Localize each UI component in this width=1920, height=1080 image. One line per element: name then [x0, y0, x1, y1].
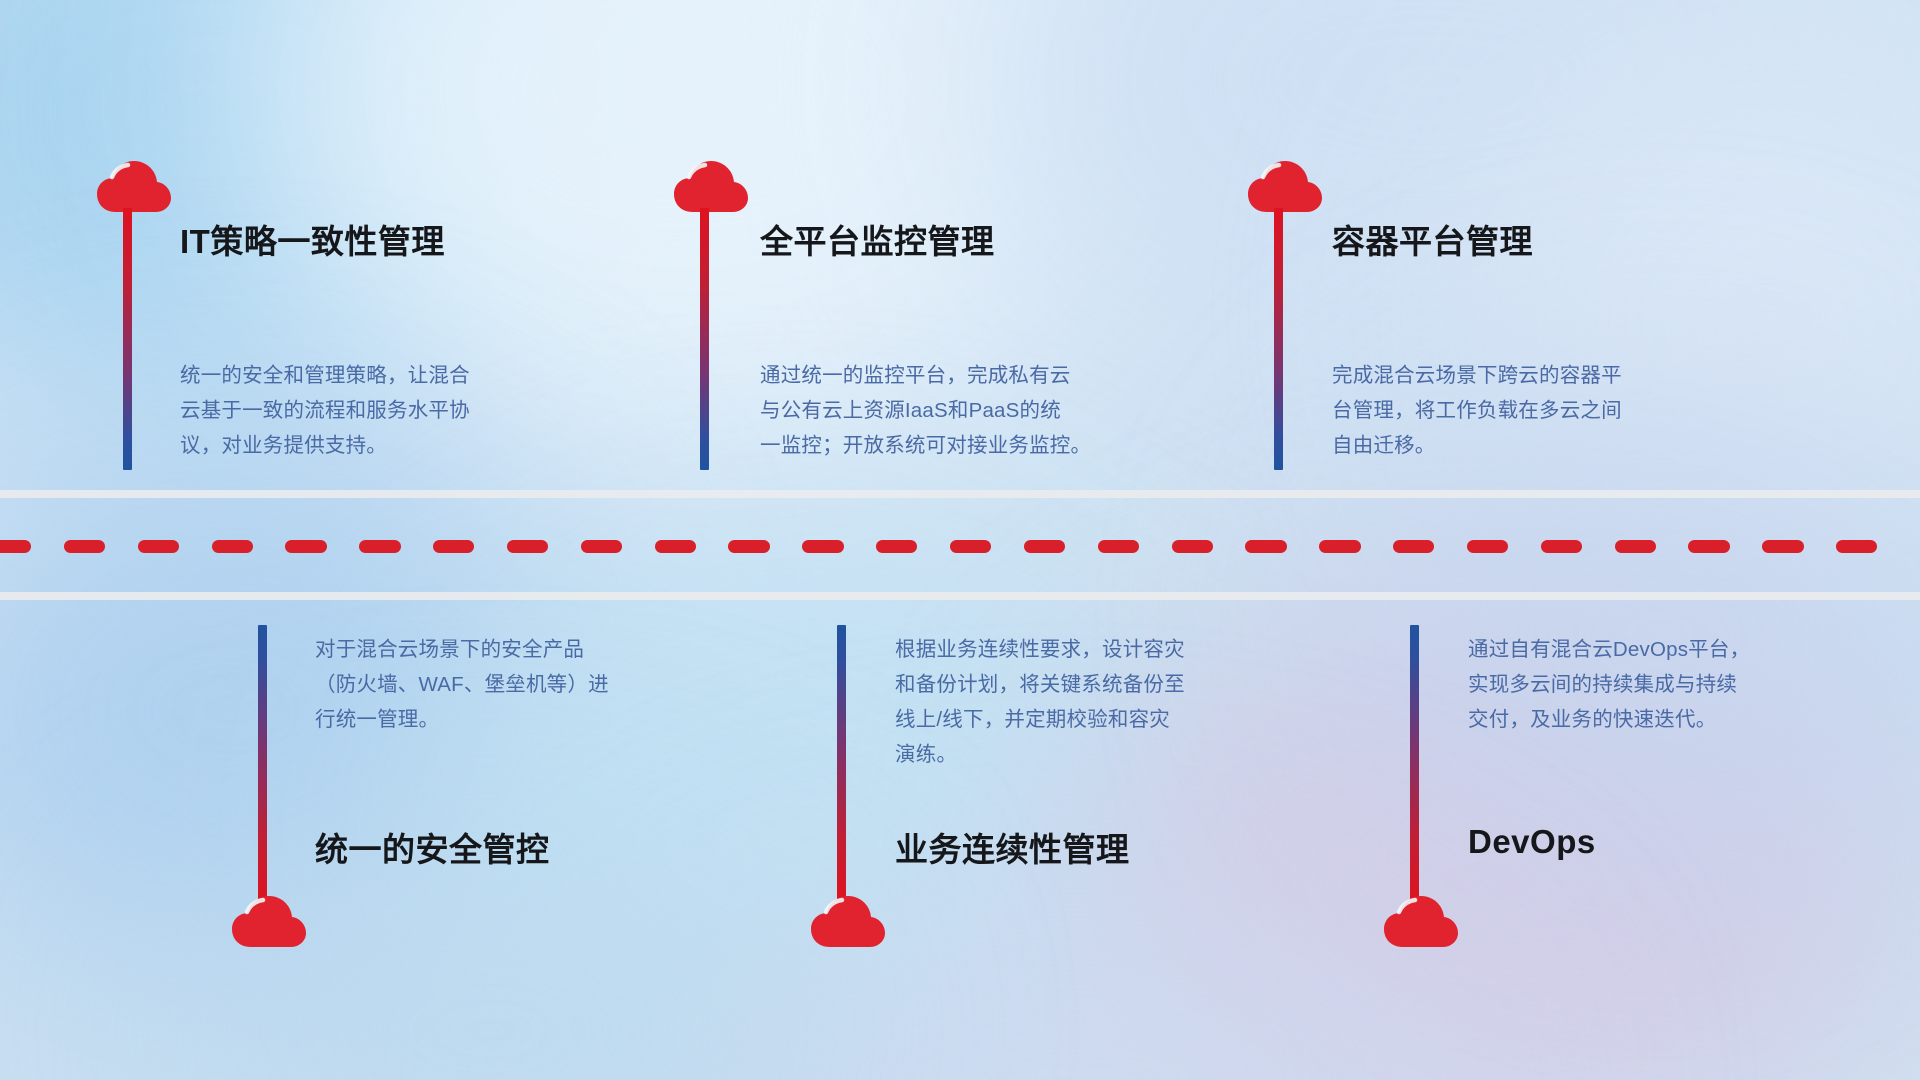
column-title: 容器平台管理: [1332, 215, 1533, 263]
dash-segment: [1172, 540, 1213, 553]
cloud-icon: [1247, 160, 1323, 214]
cloud-icon: [673, 160, 749, 214]
column-description: 完成混合云场景下跨云的容器平 台管理，将工作负载在多云之间 自由迁移。: [1332, 358, 1772, 463]
column-description: 统一的安全和管理策略，让混合 云基于一致的流程和服务水平协 议，对业务提供支持。: [180, 358, 610, 463]
column-title: DevOps: [1468, 823, 1596, 861]
dash-segment: [1467, 540, 1508, 553]
column-title: 业务连续性管理: [895, 823, 1130, 871]
cloud-icon: [231, 895, 307, 949]
dash-segment: [1762, 540, 1803, 553]
dash-segment: [1245, 540, 1286, 553]
dash-segment: [1688, 540, 1729, 553]
column-description: 根据业务连续性要求，设计容灾 和备份计划，将关键系统备份至 线上/线下，并定期校…: [895, 632, 1325, 772]
dash-segment: [138, 540, 179, 553]
dash-segment: [0, 540, 31, 553]
dash-segment: [950, 540, 991, 553]
infographic-canvas: IT策略一致性管理 统一的安全和管理策略，让混合 云基于一致的流程和服务水平协 …: [0, 0, 1920, 1080]
dash-segment: [1541, 540, 1582, 553]
dash-segment: [1319, 540, 1360, 553]
connector-stem: [700, 208, 709, 470]
dash-segment: [507, 540, 548, 553]
dashed-divider: [0, 540, 1920, 553]
dash-segment: [1393, 540, 1434, 553]
cloud-icon: [96, 160, 172, 214]
dash-segment: [581, 540, 622, 553]
cloud-icon: [1383, 895, 1459, 949]
column-title: IT策略一致性管理: [180, 215, 445, 263]
dash-segment: [1615, 540, 1656, 553]
connector-stem: [123, 208, 132, 470]
column-title: 统一的安全管控: [315, 823, 550, 871]
dash-segment: [1836, 540, 1877, 553]
dash-segment: [876, 540, 917, 553]
dash-segment: [64, 540, 105, 553]
connector-stem: [258, 625, 267, 905]
column-description: 通过统一的监控平台，完成私有云 与公有云上资源IaaS和PaaS的统 一监控；开…: [760, 358, 1200, 463]
dash-segment: [802, 540, 843, 553]
dash-segment: [1024, 540, 1065, 553]
divider-rule-bottom: [0, 592, 1920, 600]
dash-segment: [1098, 540, 1139, 553]
column-description: 对于混合云场景下的安全产品 （防火墙、WAF、堡垒机等）进 行统一管理。: [315, 632, 745, 737]
column-description: 通过自有混合云DevOps平台， 实现多云间的持续集成与持续 交付，及业务的快速…: [1468, 632, 1898, 737]
dash-segment: [433, 540, 474, 553]
dash-segment: [655, 540, 696, 553]
connector-stem: [837, 625, 846, 905]
cloud-icon: [810, 895, 886, 949]
connector-stem: [1274, 208, 1283, 470]
dash-segment: [212, 540, 253, 553]
dash-segment: [359, 540, 400, 553]
column-title: 全平台监控管理: [760, 215, 995, 263]
dash-segment: [728, 540, 769, 553]
dash-segment: [285, 540, 326, 553]
divider-rule-top: [0, 490, 1920, 498]
connector-stem: [1410, 625, 1419, 905]
